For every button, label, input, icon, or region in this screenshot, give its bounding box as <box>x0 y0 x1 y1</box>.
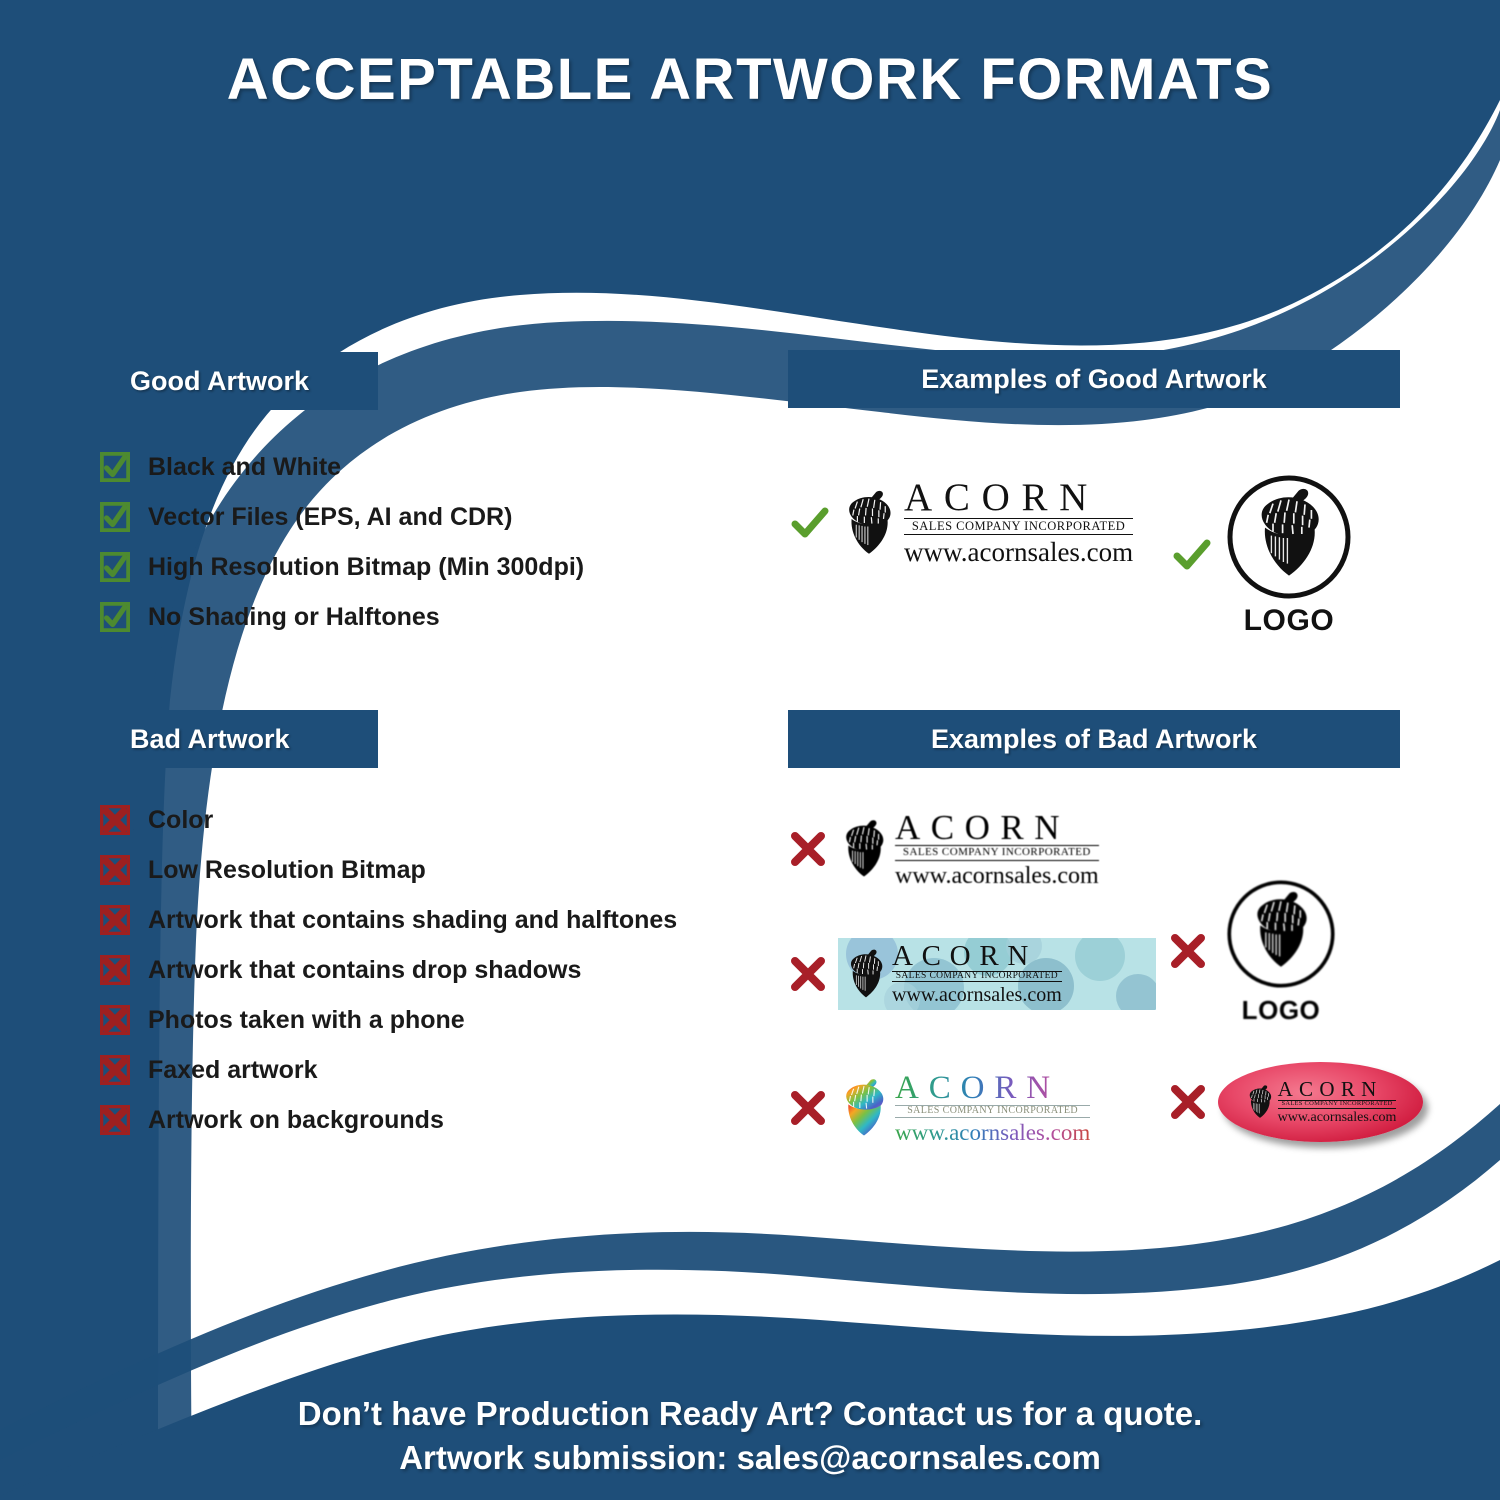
banner-good-artwork: Good Artwork <box>100 352 378 410</box>
acorn-url-text: www.acornsales.com <box>895 1120 1090 1145</box>
acorn-brand-text: ACORN <box>1278 1079 1397 1100</box>
good-example-circle-logo: LOGO <box>1172 472 1354 638</box>
check-box-icon <box>100 502 130 532</box>
acorn-icon <box>838 1076 890 1140</box>
banner-good-examples-label: Examples of Good Artwork <box>921 364 1267 395</box>
list-item: Low Resolution Bitmap <box>100 845 677 895</box>
banner-good-examples: Examples of Good Artwork <box>788 350 1400 408</box>
acorn-circle-lockup: LOGO <box>1224 472 1354 638</box>
acorn-url-text: www.acornsales.com <box>895 863 1099 889</box>
list-item: Artwork that contains drop shadows <box>100 945 677 995</box>
check-box-icon <box>100 602 130 632</box>
banner-bad-artwork-label: Bad Artwork <box>130 724 290 755</box>
good-example-wordmark: ACORN SALES COMPANY INCORPORATED www.aco… <box>790 478 1133 568</box>
list-item-label: Color <box>148 806 213 835</box>
list-item-label: No Shading or Halftones <box>148 603 440 632</box>
acorn-brand-text: ACORN <box>904 478 1133 517</box>
acorn-brand-text: ACORN <box>892 942 1062 971</box>
list-item-label: Black and White <box>148 453 341 482</box>
page-title: ACCEPTABLE ARTWORK FORMATS <box>0 46 1500 113</box>
banner-good-artwork-label: Good Artwork <box>130 366 309 397</box>
list-item: Black and White <box>100 442 584 492</box>
x-box-icon <box>100 905 130 935</box>
x-icon <box>788 1088 828 1128</box>
x-box-icon <box>100 805 130 835</box>
acorn-icon <box>838 818 890 880</box>
list-item: Vector Files (EPS, AI and CDR) <box>100 492 584 542</box>
logo-caption: LOGO <box>1244 604 1335 638</box>
x-box-icon <box>100 1005 130 1035</box>
artwork-background-swatch: ACORN SALES COMPANY INCORPORATED www.aco… <box>838 938 1156 1010</box>
x-icon <box>1168 931 1208 971</box>
acorn-circle-icon <box>1224 472 1354 602</box>
check-box-icon <box>100 552 130 582</box>
bad-example-circle-logo-lowres: LOGO <box>1168 875 1340 1026</box>
list-item-label: Photos taken with a phone <box>148 1006 465 1035</box>
acorn-circle-icon <box>1222 875 1340 993</box>
bad-example-wordmark-on-background: ACORN SALES COMPANY INCORPORATED www.aco… <box>788 938 1156 1010</box>
acorn-brand-text: ACORN <box>895 810 1099 845</box>
acorn-url-text: www.acornsales.com <box>904 538 1133 568</box>
acorn-tagline-text: SALES COMPANY INCORPORATED <box>1278 1100 1397 1109</box>
bad-artwork-list: Color Low Resolution Bitmap Artwork that… <box>100 795 677 1145</box>
acorn-wordmark: ACORN SALES COMPANY INCORPORATED www.aco… <box>838 810 1099 889</box>
list-item-label: Faxed artwork <box>148 1056 318 1085</box>
list-item: Color <box>100 795 677 845</box>
footer-line-2: Artwork submission: sales@acornsales.com <box>0 1436 1500 1480</box>
list-item-label: High Resolution Bitmap (Min 300dpi) <box>148 553 584 582</box>
check-box-icon <box>100 452 130 482</box>
acorn-tagline-text: SALES COMPANY INCORPORATED <box>892 971 1062 983</box>
list-item: High Resolution Bitmap (Min 300dpi) <box>100 542 584 592</box>
acorn-wordmark: ACORN SALES COMPANY INCORPORATED www.aco… <box>838 1072 1090 1145</box>
footer-contact: Don’t have Production Ready Art? Contact… <box>0 1392 1500 1480</box>
acorn-tagline-text: SALES COMPANY INCORPORATED <box>895 1105 1090 1118</box>
acorn-tagline-text: SALES COMPANY INCORPORATED <box>904 518 1133 535</box>
good-artwork-list: Black and White Vector Files (EPS, AI an… <box>100 442 584 642</box>
x-icon <box>788 954 828 994</box>
list-item-label: Artwork that contains shading and halfto… <box>148 906 677 935</box>
acorn-tagline-text: SALES COMPANY INCORPORATED <box>895 845 1099 861</box>
acorn-circle-lockup: LOGO <box>1222 875 1340 1026</box>
x-icon <box>788 829 828 869</box>
list-item: No Shading or Halftones <box>100 592 584 642</box>
x-box-icon <box>100 855 130 885</box>
acorn-url-text: www.acornsales.com <box>892 984 1062 1006</box>
banner-bad-artwork: Bad Artwork <box>100 710 378 768</box>
bad-example-wordmark-color: ACORN SALES COMPANY INCORPORATED www.aco… <box>788 1072 1090 1145</box>
acorn-wordmark: ACORN SALES COMPANY INCORPORATED www.aco… <box>840 478 1133 568</box>
x-box-icon <box>100 1105 130 1135</box>
list-item-label: Low Resolution Bitmap <box>148 856 426 885</box>
acorn-icon <box>840 488 898 558</box>
list-item: Photos taken with a phone <box>100 995 677 1045</box>
x-box-icon <box>100 1055 130 1085</box>
list-item-label: Artwork that contains drop shadows <box>148 956 581 985</box>
x-icon <box>1168 1082 1208 1122</box>
footer-line-1: Don’t have Production Ready Art? Contact… <box>0 1392 1500 1436</box>
acorn-brand-text: ACORN <box>895 1072 1090 1105</box>
acorn-icon <box>844 947 888 1001</box>
acorn-oval-badge: ACORN SALES COMPANY INCORPORATED www.aco… <box>1218 1062 1423 1142</box>
acorn-wordmark: ACORN SALES COMPANY INCORPORATED www.aco… <box>1245 1079 1397 1125</box>
poster-canvas: ACCEPTABLE ARTWORK FORMATS Good Artwork … <box>0 0 1500 1500</box>
banner-bad-examples: Examples of Bad Artwork <box>788 710 1400 768</box>
bad-example-wordmark-lowres: ACORN SALES COMPANY INCORPORATED www.aco… <box>788 810 1099 889</box>
list-item: Faxed artwork <box>100 1045 677 1095</box>
acorn-url-text: www.acornsales.com <box>1278 1110 1397 1125</box>
list-item-label: Vector Files (EPS, AI and CDR) <box>148 503 512 532</box>
list-item-label: Artwork on backgrounds <box>148 1106 444 1135</box>
banner-bad-examples-label: Examples of Bad Artwork <box>931 724 1257 755</box>
list-item: Artwork that contains shading and halfto… <box>100 895 677 945</box>
bad-example-oval-badge: ACORN SALES COMPANY INCORPORATED www.aco… <box>1168 1062 1423 1142</box>
acorn-wordmark: ACORN SALES COMPANY INCORPORATED www.aco… <box>844 942 1062 1007</box>
check-icon <box>790 503 830 543</box>
x-box-icon <box>100 955 130 985</box>
logo-caption: LOGO <box>1242 995 1321 1026</box>
acorn-icon <box>1245 1083 1275 1121</box>
check-icon <box>1172 535 1212 575</box>
list-item: Artwork on backgrounds <box>100 1095 677 1145</box>
